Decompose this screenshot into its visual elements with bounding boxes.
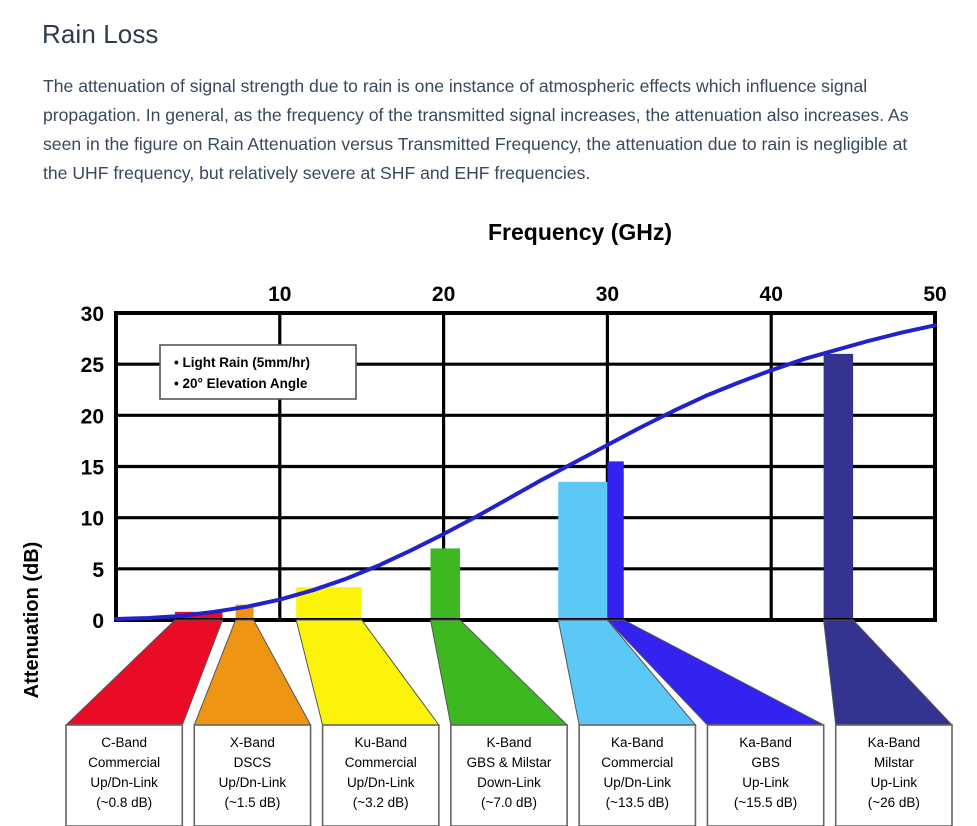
y-tick-label: 0 [92, 610, 104, 633]
y-axis-title: Attenuation (dB) [21, 542, 43, 699]
band-funnel-ka-band-milstar [824, 620, 952, 725]
y-axis-tick-labels: 051015202530 [81, 303, 105, 633]
band-label-line: (~26 dB) [868, 795, 920, 810]
band-region-k-band [430, 548, 459, 620]
x-tick-label: 30 [596, 283, 619, 306]
band-label-line: DSCS [234, 755, 272, 770]
y-tick-label: 25 [81, 354, 105, 377]
band-label-line: X-Band [230, 735, 275, 750]
band-connector-funnels [66, 620, 952, 725]
band-label-line: Up/Dn-Link [347, 775, 415, 790]
rain-attenuation-figure: Frequency (GHz) Attenuation (dB) 1020304… [0, 205, 977, 826]
band-label-box-k-band: K-BandGBS & MilstarDown-Link(~7.0 dB) [451, 725, 567, 826]
band-label-line: Commercial [601, 755, 673, 770]
band-label-line: Up/Dn-Link [219, 775, 287, 790]
band-label-line: GBS & Milstar [467, 755, 552, 770]
band-label-line: C-Band [101, 735, 147, 750]
band-label-line: K-Band [486, 735, 531, 750]
band-label-line: Up-Link [871, 775, 918, 790]
page-root: Rain Loss The attenuation of signal stre… [0, 0, 977, 826]
band-label-line: Commercial [345, 755, 417, 770]
band-label-line: (~0.8 dB) [96, 795, 152, 810]
band-label-line: Up/Dn-Link [90, 775, 158, 790]
band-label-line: (~15.5 dB) [734, 795, 797, 810]
band-label-line: Milstar [874, 755, 914, 770]
band-label-line: Commercial [88, 755, 160, 770]
x-axis-tick-labels: 1020304050 [268, 283, 947, 306]
band-funnel-k-band [430, 620, 567, 725]
band-funnel-c-band [66, 620, 222, 725]
band-label-line: Up-Link [742, 775, 789, 790]
band-label-line: Ka-Band [739, 735, 792, 750]
y-tick-label: 5 [92, 559, 104, 582]
band-label-line: Ku-Band [354, 735, 407, 750]
x-tick-label: 10 [268, 283, 291, 306]
legend-annotation-line: • Light Rain (5mm/hr) [174, 355, 310, 370]
band-label-line: (~3.2 dB) [353, 795, 409, 810]
band-label-line: Ka-Band [611, 735, 664, 750]
band-label-box-ka-band-milstar: Ka-BandMilstarUp-Link(~26 dB) [836, 725, 952, 826]
y-tick-label: 15 [81, 457, 105, 480]
band-label-line: (~7.0 dB) [481, 795, 537, 810]
band-label-boxes: C-BandCommercialUp/Dn-Link(~0.8 dB)X-Ban… [66, 725, 952, 826]
band-label-line: Down-Link [477, 775, 541, 790]
band-label-box-c-band: C-BandCommercialUp/Dn-Link(~0.8 dB) [66, 725, 182, 826]
band-label-box-ka-band-gbs: Ka-BandGBSUp-Link(~15.5 dB) [707, 725, 823, 826]
y-tick-label: 30 [81, 303, 104, 326]
page-title: Rain Loss [42, 19, 159, 50]
band-region-ka-band-milstar [824, 354, 853, 620]
band-label-line: (~1.5 dB) [224, 795, 280, 810]
band-region-ka-band-gbs [607, 461, 623, 620]
y-tick-label: 10 [81, 508, 104, 531]
y-tick-label: 20 [81, 405, 104, 428]
chart-legend-box: • Light Rain (5mm/hr)• 20° Elevation Ang… [160, 345, 356, 399]
x-tick-label: 50 [923, 283, 946, 306]
band-label-line: Up/Dn-Link [604, 775, 672, 790]
chart-title: Frequency (GHz) [488, 219, 672, 245]
band-label-box-ku-band: Ku-BandCommercialUp/Dn-Link(~3.2 dB) [323, 725, 439, 826]
band-label-box-ka-band-commercial: Ka-BandCommercialUp/Dn-Link(~13.5 dB) [579, 725, 695, 826]
legend-annotation-line: • 20° Elevation Angle [174, 376, 308, 391]
intro-paragraph: The attenuation of signal strength due t… [43, 72, 923, 188]
band-label-line: (~13.5 dB) [606, 795, 669, 810]
x-tick-label: 40 [760, 283, 783, 306]
band-funnel-ku-band [296, 620, 439, 725]
band-region-ka-band-commercial [558, 482, 607, 620]
x-tick-label: 20 [432, 283, 455, 306]
rain-attenuation-chart: Frequency (GHz) Attenuation (dB) 1020304… [0, 205, 977, 826]
band-label-box-x-band: X-BandDSCSUp/Dn-Link(~1.5 dB) [194, 725, 310, 826]
band-label-line: Ka-Band [868, 735, 921, 750]
band-label-line: GBS [751, 755, 780, 770]
